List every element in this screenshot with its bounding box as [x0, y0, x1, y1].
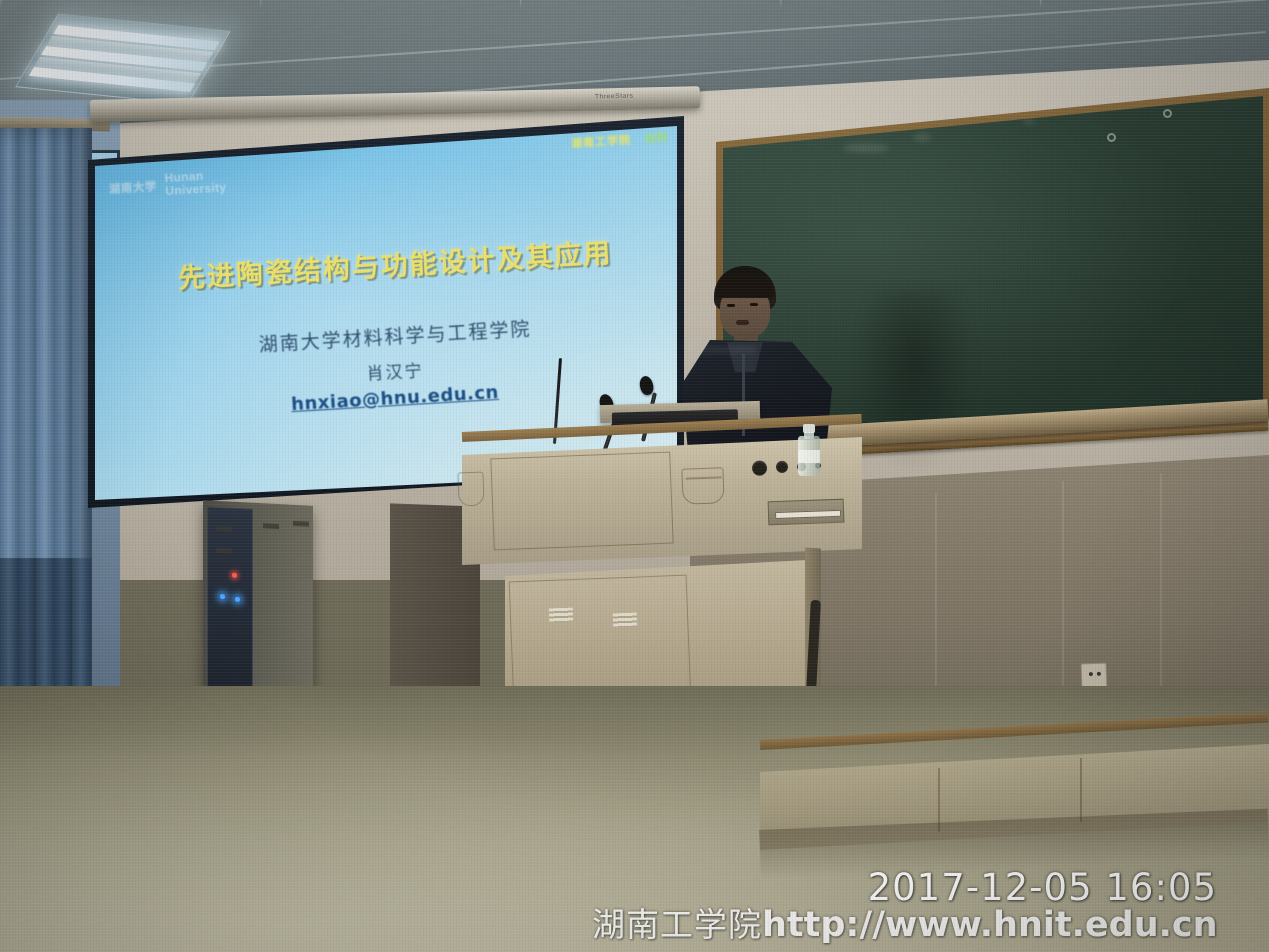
cabinet-vent	[613, 613, 637, 628]
rack-led-blue	[235, 597, 240, 602]
blackboard-clip	[1163, 109, 1172, 118]
logo-english-name: Hunan University	[164, 168, 227, 198]
slide-corner-label-b: 材料	[644, 129, 669, 146]
person-eye	[750, 303, 758, 306]
person-fringe	[716, 278, 774, 298]
equipment-rack-cabinet[interactable]	[203, 500, 313, 706]
lecture-hall-photo: ThreeStars 湖南大学 Hunan University 湖南工学院 材…	[0, 0, 1269, 952]
podium-disc-drive[interactable]	[768, 499, 845, 526]
person-eye	[727, 304, 735, 307]
watermark-url: http://www.hnit.edu.cn	[762, 905, 1218, 945]
projection-screen: 湖南大学 Hunan University 湖南工学院 材料 先进陶瓷结构与功能…	[95, 126, 677, 500]
logo-chinese-name: 湖南大学	[109, 178, 158, 197]
podium-cup-holder-left	[457, 472, 484, 507]
person-shoulder-highlight	[696, 346, 756, 354]
cabinet-vent	[549, 608, 573, 623]
podium-front-panel	[490, 452, 673, 551]
watermark-institution: 湖南工学院	[592, 898, 762, 946]
control-knob[interactable]	[752, 460, 768, 476]
person-mouth	[736, 320, 749, 325]
control-knob[interactable]	[776, 461, 788, 473]
roller-brand-label: ThreeStars	[595, 93, 634, 100]
rack-door[interactable]	[207, 506, 253, 690]
water-bottle[interactable]	[798, 424, 820, 476]
bottle-label	[798, 450, 820, 463]
rack-led-red	[232, 573, 237, 578]
site-watermark: 湖南工学院 http://www.hnit.edu.cn	[592, 898, 1218, 946]
podium-cup-holder	[681, 467, 724, 504]
window-curtain[interactable]	[0, 128, 92, 748]
rack-led-blue	[220, 594, 225, 599]
blackboard-clip	[1107, 133, 1116, 142]
